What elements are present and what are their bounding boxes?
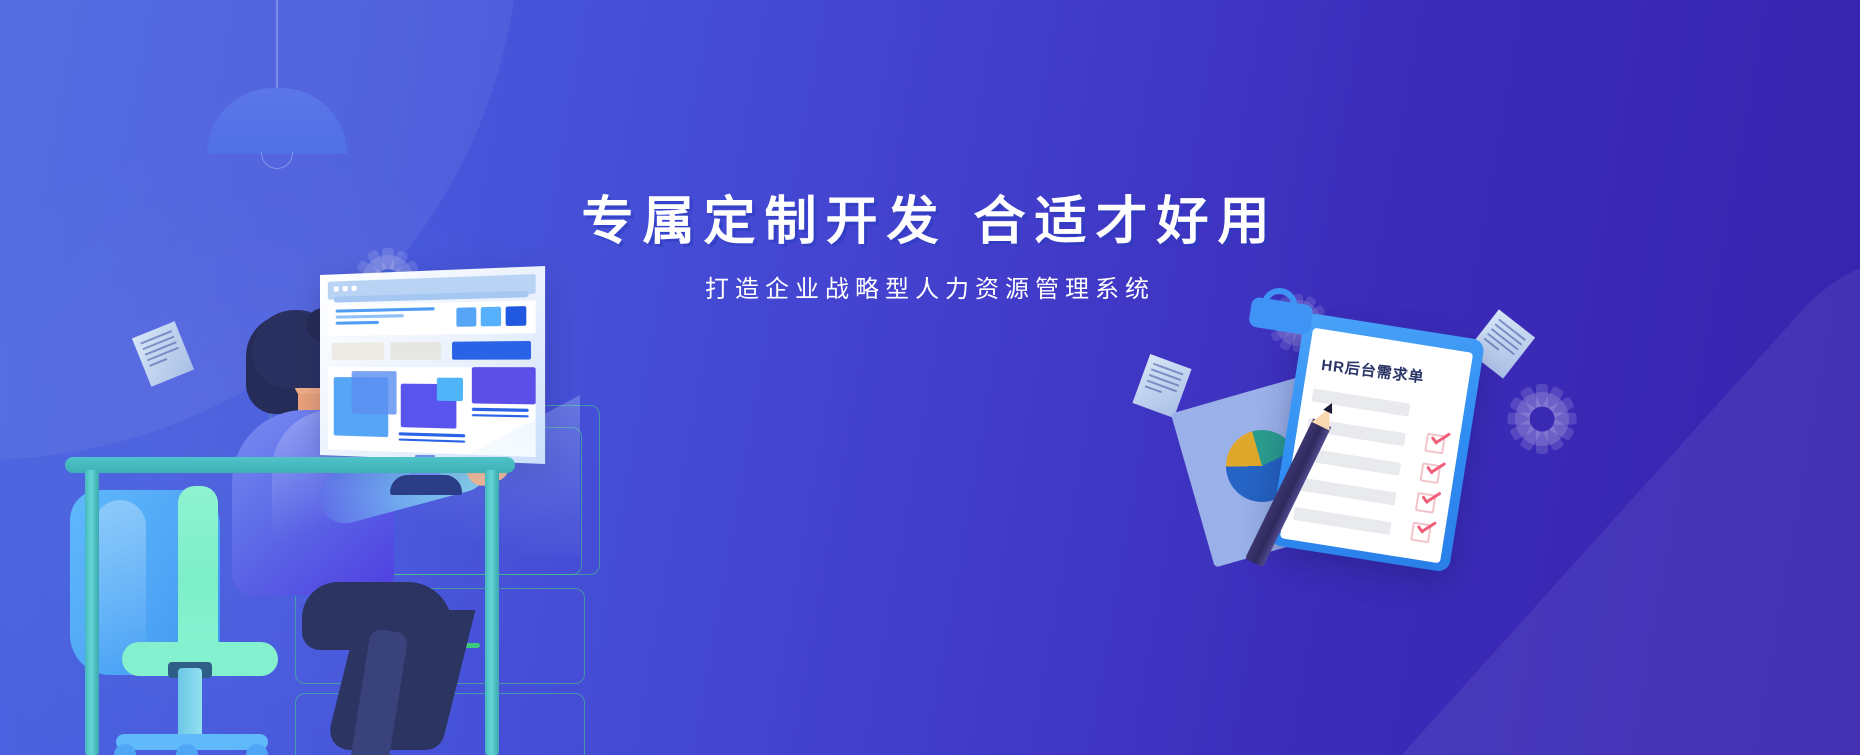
content-card bbox=[352, 371, 397, 415]
check-icon bbox=[1424, 461, 1446, 478]
check-icon bbox=[1428, 431, 1450, 448]
hero-banner: HR后台需求单 bbox=[0, 0, 1860, 755]
content-text-lines bbox=[399, 432, 466, 446]
content-card bbox=[437, 378, 463, 402]
desk-leg bbox=[485, 470, 499, 755]
desk-surface bbox=[65, 457, 515, 473]
lamp-cord bbox=[276, 0, 278, 90]
content-card bbox=[472, 367, 536, 404]
clipboard-checklist bbox=[1291, 384, 1457, 555]
dashboard-header-row bbox=[328, 300, 536, 336]
clipboard-title: HR后台需求单 bbox=[1320, 354, 1462, 392]
hanging-lamp-icon bbox=[207, 0, 347, 165]
check-icon bbox=[1414, 520, 1436, 537]
dashboard-content-row bbox=[328, 367, 536, 457]
document-icon-center bbox=[1132, 354, 1191, 418]
lamp-shade bbox=[207, 88, 347, 154]
office-chair-post bbox=[178, 668, 202, 740]
header-text-lines bbox=[336, 307, 435, 328]
banner-copy: 专属定制开发合适才好用 打造企业战略型人力资源管理系统 bbox=[0, 192, 1860, 304]
desk-leg bbox=[85, 470, 99, 755]
headline-part-2: 合适才好用 bbox=[974, 193, 1279, 251]
content-text-lines bbox=[472, 408, 529, 421]
monitor-base bbox=[390, 475, 462, 495]
dashboard-tool-row bbox=[328, 339, 536, 363]
page-subtitle: 打造企业战略型人力资源管理系统 bbox=[0, 269, 1860, 304]
headline-part-1: 专属定制开发 bbox=[581, 193, 947, 251]
desk-scene-illustration bbox=[60, 250, 700, 755]
clipboard-scene-illustration: HR后台需求单 bbox=[1190, 315, 1610, 645]
header-swatches bbox=[456, 306, 526, 327]
page-title: 专属定制开发合适才好用 bbox=[0, 192, 1860, 253]
check-icon bbox=[1419, 490, 1441, 507]
